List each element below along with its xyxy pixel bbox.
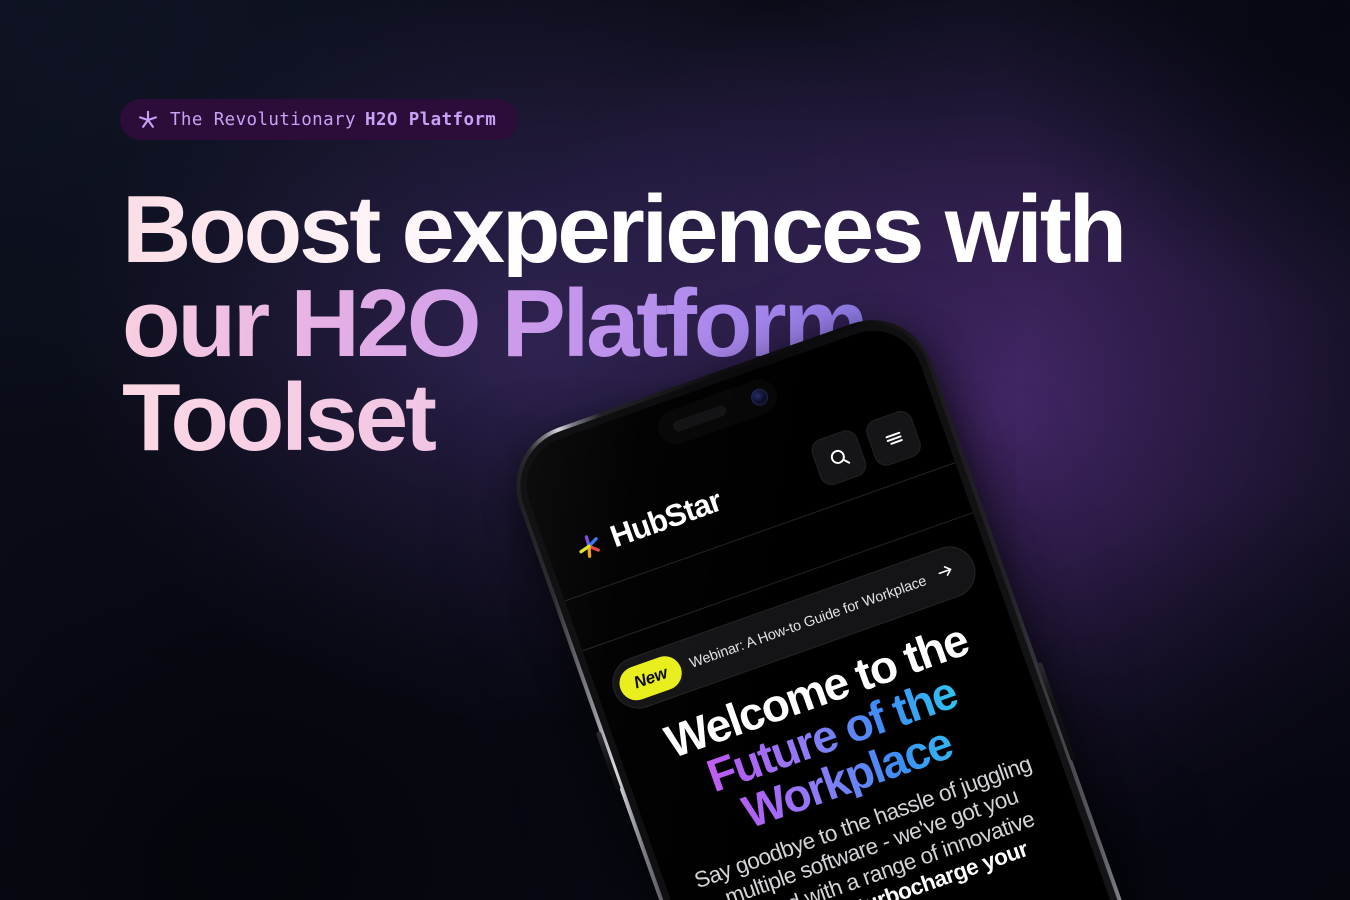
arrow-right-icon — [933, 559, 959, 588]
hamburger-menu-icon — [879, 424, 908, 453]
menu-button[interactable] — [863, 408, 924, 469]
front-camera-icon — [749, 386, 771, 408]
headline-line-2: our H2O Platform — [122, 277, 1182, 371]
brand-logo[interactable]: HubStar — [569, 483, 726, 568]
eyebrow-badge: The Revolutionary H2O Platform — [120, 99, 518, 140]
navbar-actions — [808, 408, 924, 489]
eyebrow-prefix: The Revolutionary — [170, 110, 356, 130]
eyebrow-strong: H2O Platform — [365, 110, 496, 130]
eyebrow-badge-text: The Revolutionary H2O Platform — [170, 110, 496, 130]
headline-line-1: Boost experiences with — [122, 183, 1182, 277]
earpiece-speaker-icon — [671, 404, 727, 433]
search-icon — [824, 443, 853, 472]
hero-banner: The Revolutionary H2O Platform Boost exp… — [0, 0, 1350, 900]
sparkle-star-icon — [137, 109, 159, 131]
hubstar-star-logo-icon — [570, 527, 608, 565]
search-button[interactable] — [808, 427, 869, 488]
brand-name: HubStar — [606, 483, 726, 555]
